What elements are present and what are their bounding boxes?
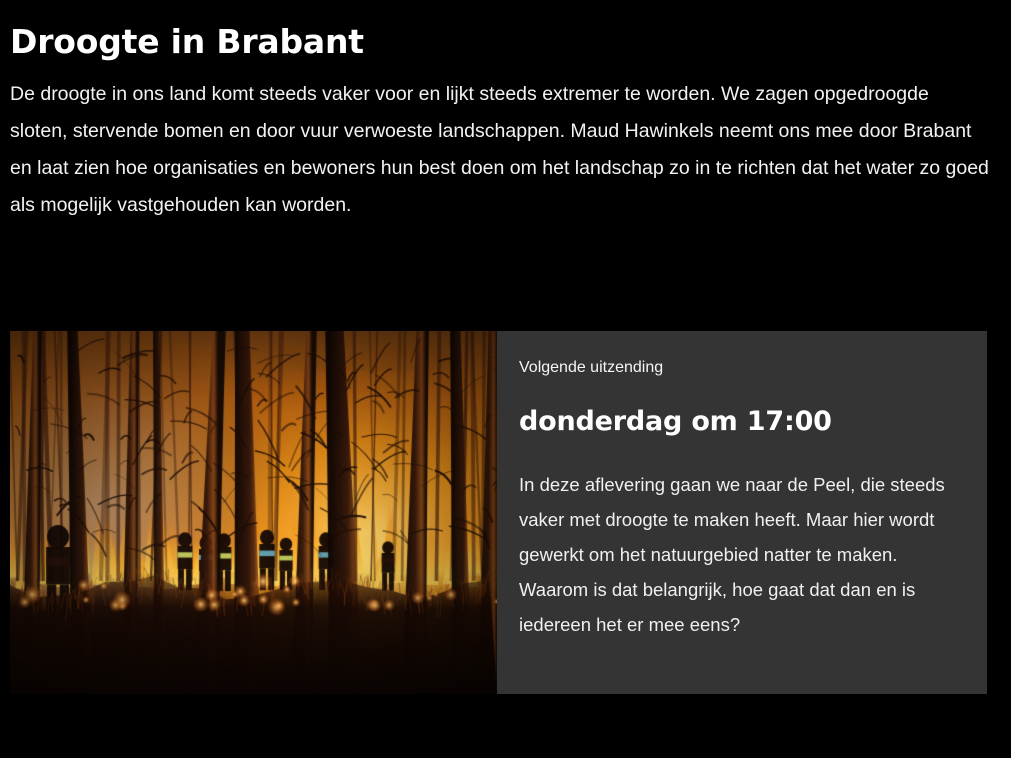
page-root: Droogte in Brabant De droogte in ons lan… <box>0 0 1011 758</box>
next-broadcast-kicker: Volgende uitzending <box>519 357 957 379</box>
forest-fire-photo-canvas <box>10 331 497 694</box>
page-title: Droogte in Brabant <box>10 22 995 62</box>
next-broadcast-heading: donderdag om 17:00 <box>519 405 957 439</box>
forest-fire-photo <box>10 331 497 694</box>
intro-section: Droogte in Brabant De droogte in ons lan… <box>10 22 995 224</box>
next-broadcast-card: Volgende uitzending donderdag om 17:00 I… <box>497 331 987 694</box>
next-broadcast-body: In deze aflevering gaan we naar de Peel,… <box>519 467 957 642</box>
intro-paragraph: De droogte in ons land komt steeds vaker… <box>10 76 990 224</box>
media-row: Volgende uitzending donderdag om 17:00 I… <box>10 331 987 694</box>
